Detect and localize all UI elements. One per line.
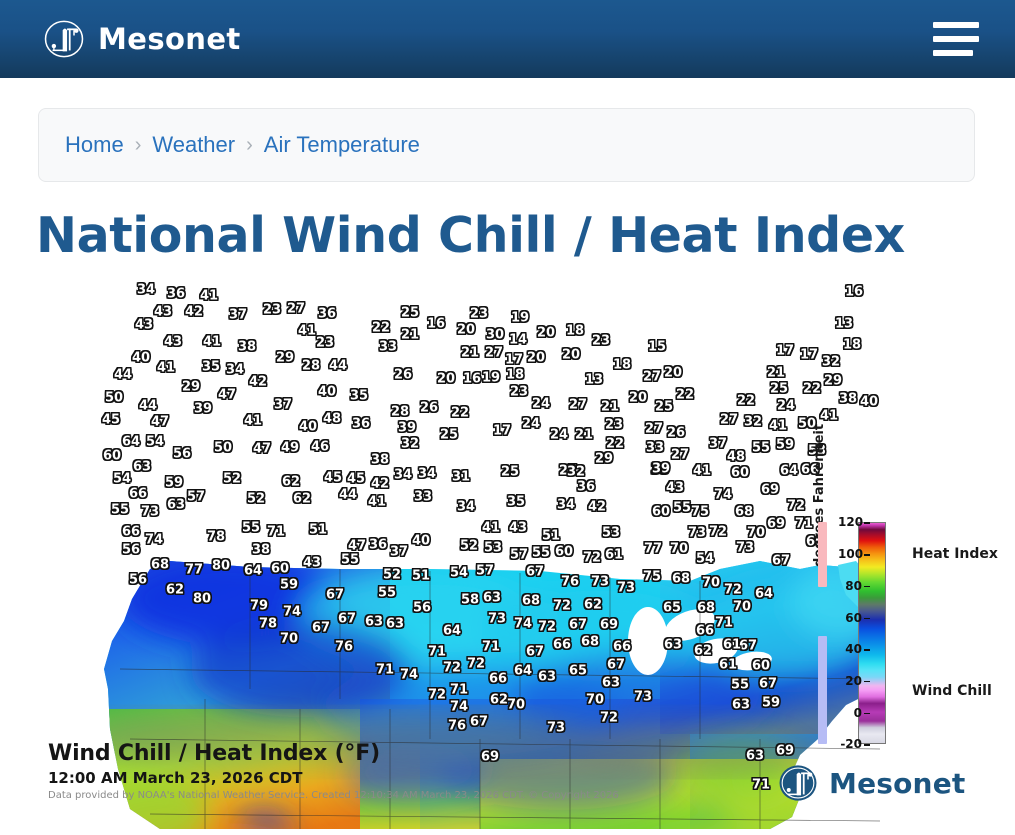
colorbar-range-label: Wind Chill [912, 683, 992, 699]
site-header: Mesonet [0, 0, 1015, 78]
wind-chill-heat-index-map[interactable]: 3436414342372327362523191643434138224116… [0, 269, 1015, 829]
mesonet-tower-emblem-icon [776, 761, 820, 805]
map-caption-timestamp: 12:00 AM March 23, 2026 CDT [48, 769, 619, 787]
map-caption-title: Wind Chill / Heat Index (°F) [48, 741, 619, 766]
hamburger-bar-1 [933, 22, 979, 28]
colorbar-range-label: Heat Index [912, 546, 998, 562]
colorbar-tick: 100 [838, 547, 862, 561]
map-watermark: Mesonet [776, 761, 965, 805]
colorbar-tick: -20 [838, 737, 862, 751]
hamburger-bar-3 [933, 50, 973, 56]
colorbar-tick: 20 [838, 674, 862, 688]
colorbar-range-heat-index [818, 522, 827, 586]
brand-logo[interactable]: Mesonet [42, 17, 241, 61]
colorbar-tick: 120 [838, 515, 862, 529]
colorbar-range-wind-chill [818, 636, 827, 745]
colorbar-tick: 80 [838, 579, 862, 593]
breadcrumb-item-weather[interactable]: Weather [152, 132, 235, 158]
page-title: National Wind Chill / Heat Index [36, 210, 1015, 261]
hamburger-menu-icon[interactable] [933, 22, 979, 56]
breadcrumb-item-home[interactable]: Home [65, 132, 124, 158]
mesonet-tower-emblem-icon [42, 17, 86, 61]
chevron-right-icon: › [135, 134, 142, 157]
map-watermark-text: Mesonet [829, 767, 965, 800]
colorbar-legend: degrees Fahrenheit 120100806040200-20 He… [818, 515, 1008, 765]
map-caption: Wind Chill / Heat Index (°F) 12:00 AM Ma… [48, 741, 619, 801]
chevron-right-icon: › [246, 134, 253, 157]
colorbar-tick: 40 [838, 642, 862, 656]
hamburger-bar-2 [933, 36, 979, 42]
map-caption-credit: Data provided by NOAA's National Weather… [48, 790, 619, 801]
brand-name: Mesonet [98, 22, 241, 56]
colorbar-tick: 60 [838, 611, 862, 625]
colorbar-tick: 0 [838, 706, 862, 720]
breadcrumb-item-air-temperature[interactable]: Air Temperature [264, 132, 420, 158]
breadcrumb: Home › Weather › Air Temperature [38, 108, 975, 182]
